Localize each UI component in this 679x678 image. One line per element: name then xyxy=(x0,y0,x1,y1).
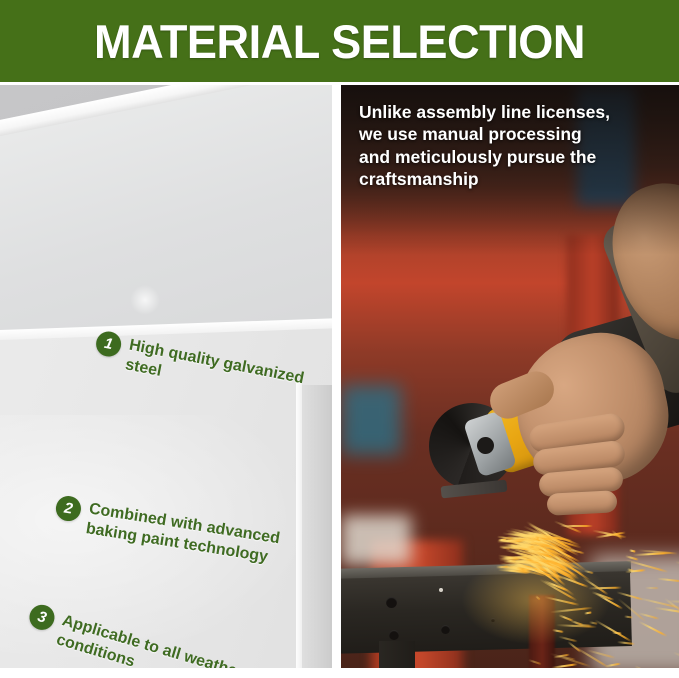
header-bar: MATERIAL SELECTION xyxy=(0,0,679,82)
badge-number-icon: 2 xyxy=(54,494,83,523)
overlay-caption: Unlike assembly line licenses, we use ma… xyxy=(359,101,649,191)
right-process-panel: Unlike assembly line licenses, we use ma… xyxy=(341,85,679,668)
cabinet-specular-dot xyxy=(130,285,160,315)
beam-hole xyxy=(439,588,443,592)
left-product-panel: 1 High quality galvanized steel 2 Combin… xyxy=(0,85,332,668)
page-title: MATERIAL SELECTION xyxy=(14,0,666,82)
badge-number-icon: 1 xyxy=(94,329,123,358)
worker-finger xyxy=(546,490,617,516)
steel-beam-leg xyxy=(379,641,415,668)
beam-hole xyxy=(386,597,397,608)
material-selection-banner: MATERIAL SELECTION 1 High quality galvan… xyxy=(0,0,679,678)
spark-glow xyxy=(461,555,611,645)
workshop-light-blur xyxy=(341,515,411,565)
workshop-blue-blur-2 xyxy=(341,385,401,455)
beam-hole xyxy=(389,630,399,640)
beam-hole xyxy=(441,625,450,634)
